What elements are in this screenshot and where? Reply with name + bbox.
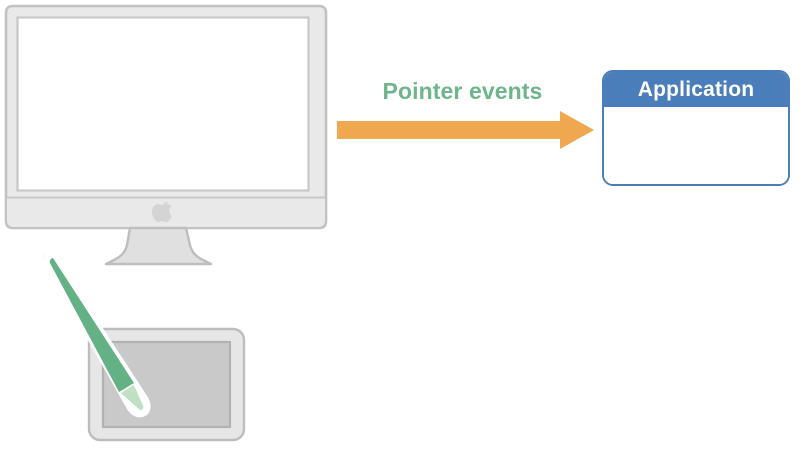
application-box-body	[604, 107, 788, 184]
display-stand	[106, 228, 211, 264]
diagram-canvas: Pointer events Application	[0, 0, 807, 451]
application-box-title: Application	[638, 78, 755, 102]
application-box-header: Application	[604, 72, 788, 107]
application-box: Application	[602, 70, 790, 186]
display-screen	[19, 19, 307, 189]
pointer-events-label: Pointer events	[330, 78, 595, 105]
diagram-graphics-layer	[0, 0, 807, 451]
imac-display	[6, 6, 326, 264]
pointer-events-arrow	[337, 111, 594, 149]
